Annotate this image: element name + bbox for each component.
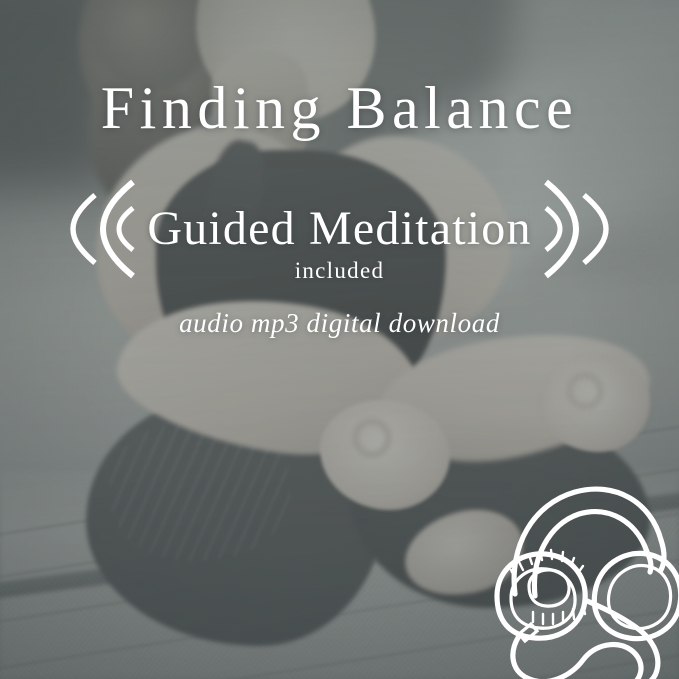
tagline-text: audio mp3 digital download bbox=[0, 308, 679, 339]
text-overlay: Finding Balance Guided Meditation includ… bbox=[0, 0, 679, 679]
subtitle-text: Guided Meditation bbox=[141, 205, 537, 253]
included-label: included bbox=[0, 258, 679, 284]
product-graphic-canvas: Finding Balance Guided Meditation includ… bbox=[0, 0, 679, 679]
page-title: Finding Balance bbox=[0, 78, 679, 138]
